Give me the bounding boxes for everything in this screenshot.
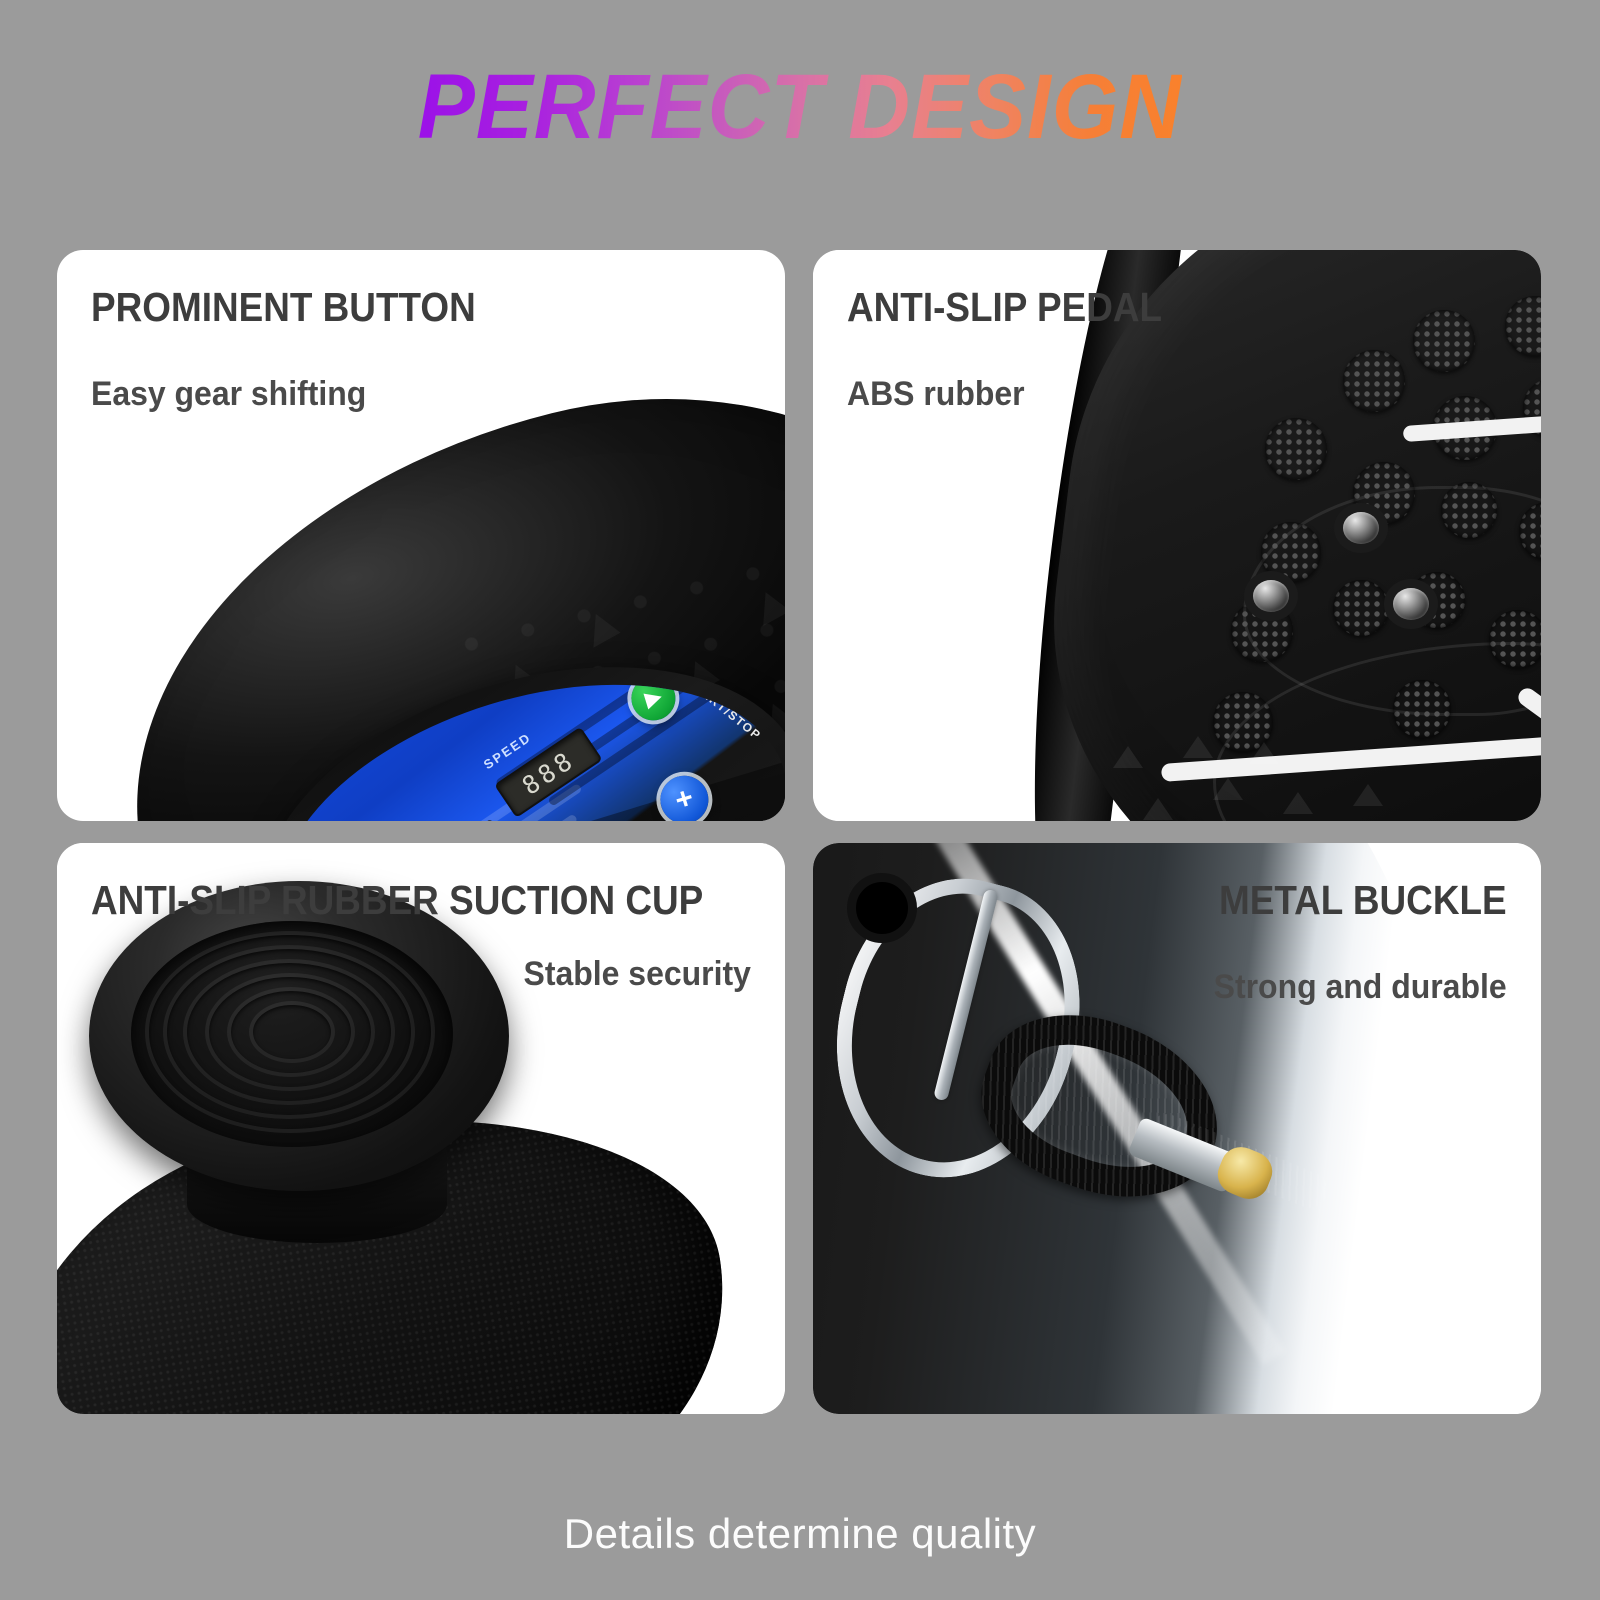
pedal-magnet [1253, 580, 1289, 612]
pedal-nub [1489, 610, 1541, 668]
card-text-block: PROMINENT BUTTON Easy gear shifting [91, 284, 518, 414]
card-title: ANTI-SLIP RUBBER SUCTION CUP [91, 877, 703, 924]
feature-card-prominent-button[interactable]: TIME 888 SPEED 888 START/STOP SPEED [57, 250, 785, 821]
feature-card-metal-buckle[interactable]: METAL BUCKLE Strong and durable [813, 843, 1541, 1414]
pedal-nub [1333, 580, 1389, 636]
pedal-nub [1413, 310, 1475, 372]
footer-caption: Details determine quality [0, 1510, 1600, 1558]
card-title: METAL BUCKLE [1219, 877, 1507, 924]
cup-disc [89, 881, 509, 1191]
pedal-nub [1393, 680, 1451, 738]
card-subtitle: Strong and durable [1207, 968, 1507, 1007]
card-subtitle: Stable security [524, 955, 751, 994]
card-title: ANTI-SLIP PEDAL [847, 284, 1162, 331]
cup-groove-ring [249, 1001, 335, 1063]
card-subtitle-block: Stable security [509, 955, 751, 994]
feature-card-suction-cup[interactable]: ANTI-SLIP RUBBER SUCTION CUP Stable secu… [57, 843, 785, 1414]
feature-card-anti-slip-pedal[interactable]: ANTI-SLIP PEDAL ABS rubber [813, 250, 1541, 821]
feature-card-grid: TIME 888 SPEED 888 START/STOP SPEED [57, 250, 1543, 1445]
pedal-nub [1343, 350, 1405, 412]
cup-inner-rim [131, 921, 453, 1147]
card-subtitle: ABS rubber [847, 375, 1176, 414]
card-text-block: ANTI-SLIP PEDAL ABS rubber [847, 284, 1197, 414]
pedal-nub [1265, 418, 1327, 480]
card-title: PROMINENT BUTTON [91, 284, 476, 331]
attachment-ring [847, 873, 917, 943]
pedal-magnet [1343, 512, 1379, 544]
header-banner: PERFECT DESIGN [0, 0, 1600, 215]
suction-cup-photo [57, 843, 785, 1414]
page-title: PERFECT DESIGN [418, 55, 1182, 160]
pedal-magnet [1393, 588, 1429, 620]
card-text-block: METAL BUCKLE Strong and durable [1187, 877, 1507, 1007]
pedal-nub [1441, 482, 1497, 538]
card-text-block: ANTI-SLIP RUBBER SUCTION CUP [91, 877, 771, 924]
card-subtitle: Easy gear shifting [91, 375, 493, 414]
pedal-nub [1261, 522, 1321, 582]
